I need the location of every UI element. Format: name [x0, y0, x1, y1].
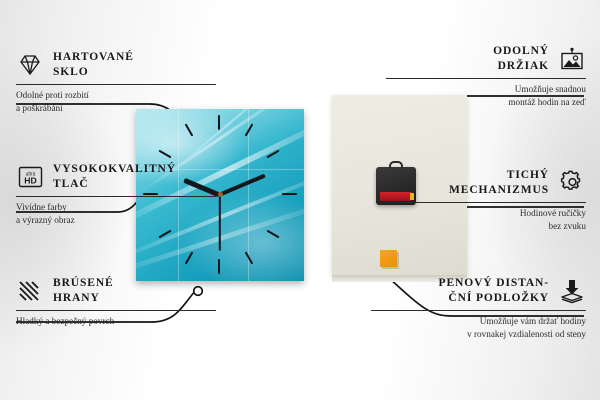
- feature-description: Vivídne farbya výrazný obraz: [16, 201, 216, 227]
- feature-header: TICHÝMECHANIZMUS: [386, 168, 586, 198]
- clock-tick-1: [245, 123, 254, 136]
- picture-frame-icon: [558, 45, 586, 73]
- feature-title: BRÚSENÉHRANY: [53, 276, 114, 306]
- feature-title: VYSOKOKVALITNÝTLAČ: [53, 162, 176, 192]
- divider: [386, 202, 586, 203]
- feature-header: HARTOVANÉSKLO: [16, 50, 216, 80]
- clock-tick-5: [245, 251, 254, 264]
- feature-description: Umožňuje snadnoumontáž hodin na zeď: [386, 83, 586, 109]
- feature-high-quality-print: ultra HD VYSOKOKVALITNÝTLAČ Vivídne farb…: [16, 162, 216, 227]
- feature-header: BRÚSENÉHRANY: [16, 276, 216, 306]
- divider: [386, 78, 586, 79]
- feature-silent-mechanism: TICHÝMECHANIZMUS Hodinové ručičkybez zvu…: [386, 168, 586, 233]
- clock-tick-12: [218, 115, 220, 130]
- gear-icon: [558, 169, 586, 197]
- mechanism-hanger: [389, 161, 403, 168]
- feature-header: PENOVÝ DISTAN-ČNÍ PODLOŽKY: [371, 276, 586, 306]
- divider: [16, 84, 216, 85]
- diagonal-lines-icon: [16, 277, 44, 305]
- clock-minute-hand: [218, 174, 266, 197]
- feature-foam-spacers: PENOVÝ DISTAN-ČNÍ PODLOŽKY Umožňuje vám …: [371, 276, 586, 341]
- feature-description: Odolné proti rozbitía poškrábání: [16, 89, 216, 115]
- ultra-hd-icon: ultra HD: [16, 163, 44, 191]
- feature-header: ODOLNÝDRŽIAK: [386, 44, 586, 74]
- clock-tick-3: [282, 193, 297, 195]
- feature-durable-holder: ODOLNÝDRŽIAK Umožňuje snadnoumontáž hodi…: [386, 44, 586, 109]
- feature-polished-edges: BRÚSENÉHRANY Hladký a bezpečný povrch: [16, 276, 216, 328]
- feature-title: ODOLNÝDRŽIAK: [493, 44, 549, 74]
- divider: [16, 196, 216, 197]
- clock-tick-4: [266, 230, 279, 239]
- divider: [371, 310, 586, 311]
- stacked-pads-arrow-icon: [558, 277, 586, 305]
- clock-tick-11: [185, 123, 194, 136]
- clock-hub: [218, 192, 223, 197]
- foam-spacer-pad: [380, 250, 397, 267]
- feature-description: Umožňuje vám držať hodinyv rovnakej vzdi…: [371, 315, 586, 341]
- feature-title: HARTOVANÉSKLO: [53, 50, 134, 80]
- infographic-stage: HARTOVANÉSKLO Odolné proti rozbitía pošk…: [0, 0, 600, 400]
- divider: [16, 310, 216, 311]
- svg-text:HD: HD: [24, 176, 36, 186]
- diamond-icon: [16, 51, 44, 79]
- clock-tick-6: [218, 259, 220, 274]
- feature-description: Hodinové ručičkybez zvuku: [386, 207, 586, 233]
- feature-hardened-glass: HARTOVANÉSKLO Odolné proti rozbitía pošk…: [16, 50, 216, 115]
- clock-tick-7: [185, 251, 194, 264]
- feature-description: Hladký a bezpečný povrch: [16, 315, 216, 328]
- feature-header: ultra HD VYSOKOKVALITNÝTLAČ: [16, 162, 216, 192]
- feature-title: PENOVÝ DISTAN-ČNÍ PODLOŽKY: [439, 276, 549, 306]
- feature-title: TICHÝMECHANIZMUS: [449, 168, 549, 198]
- clock-second-hand: [219, 195, 221, 251]
- clock-tick-10: [158, 150, 171, 159]
